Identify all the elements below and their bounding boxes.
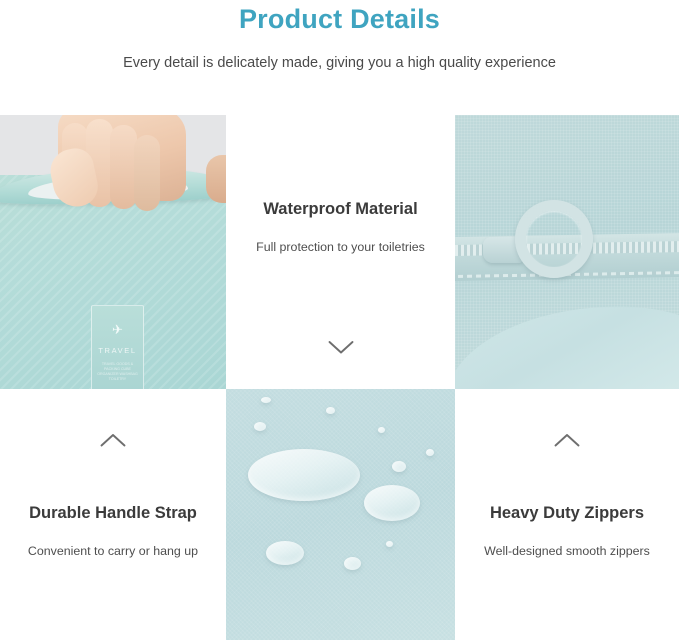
page-title: Product Details [0, 2, 679, 36]
hand-knuckles [206, 155, 226, 203]
feature-heading: Waterproof Material [263, 198, 417, 220]
header: Product Details Every detail is delicate… [0, 0, 679, 73]
product-details-infographic: Product Details Every detail is delicate… [0, 0, 679, 640]
finger-4 [134, 135, 160, 211]
chevron-up-icon [100, 433, 126, 448]
feature-description: Well-designed smooth zippers [484, 543, 650, 560]
water-droplet-small [326, 407, 335, 414]
feature-grid: ✈ TRAVEL TRAVEL GOODS & PACKING CUBE ORG… [0, 115, 679, 640]
water-droplet-small [378, 427, 385, 433]
water-droplet-medium [364, 485, 420, 521]
page-subtitle: Every detail is delicately made, giving … [0, 53, 679, 73]
feature-heavy-duty-zippers: Heavy Duty Zippers Well-designed smooth … [455, 389, 679, 640]
feature-waterproof-material: Waterproof Material Full protection to y… [226, 115, 455, 389]
photo-zipper [455, 115, 679, 389]
water-droplet-medium [266, 541, 304, 565]
water-droplet-small [392, 461, 406, 472]
photo-handle-strap: ✈ TRAVEL TRAVEL GOODS & PACKING CUBE ORG… [0, 115, 226, 389]
chevron-up-icon [554, 433, 580, 448]
water-droplet-small [344, 557, 361, 570]
airplane-icon: ✈ [112, 323, 123, 336]
feature-durable-handle-strap: Durable Handle Strap Convenient to carry… [0, 389, 226, 640]
feature-heading: Heavy Duty Zippers [490, 502, 644, 524]
feature-description: Full protection to your toiletries [256, 239, 425, 256]
feature-description: Convenient to carry or hang up [28, 543, 198, 560]
travel-tag-word-top: TRAVEL [98, 346, 136, 355]
travel-tag-fineprint: TRAVEL GOODS & PACKING CUBE ORGANIZER WA… [97, 362, 139, 382]
water-droplet-small [426, 449, 434, 456]
water-droplet-small [386, 541, 393, 547]
chevron-down-icon [328, 340, 354, 355]
water-droplet-large [248, 449, 360, 501]
water-droplet-small [261, 397, 271, 403]
photo-waterproof-fabric [226, 389, 455, 640]
water-droplet-small [254, 422, 266, 431]
travel-label-tag: ✈ TRAVEL TRAVEL GOODS & PACKING CUBE ORG… [91, 305, 144, 389]
finger-3 [110, 125, 137, 209]
feature-heading: Durable Handle Strap [29, 502, 197, 524]
zipper-ring-pull [515, 200, 593, 278]
